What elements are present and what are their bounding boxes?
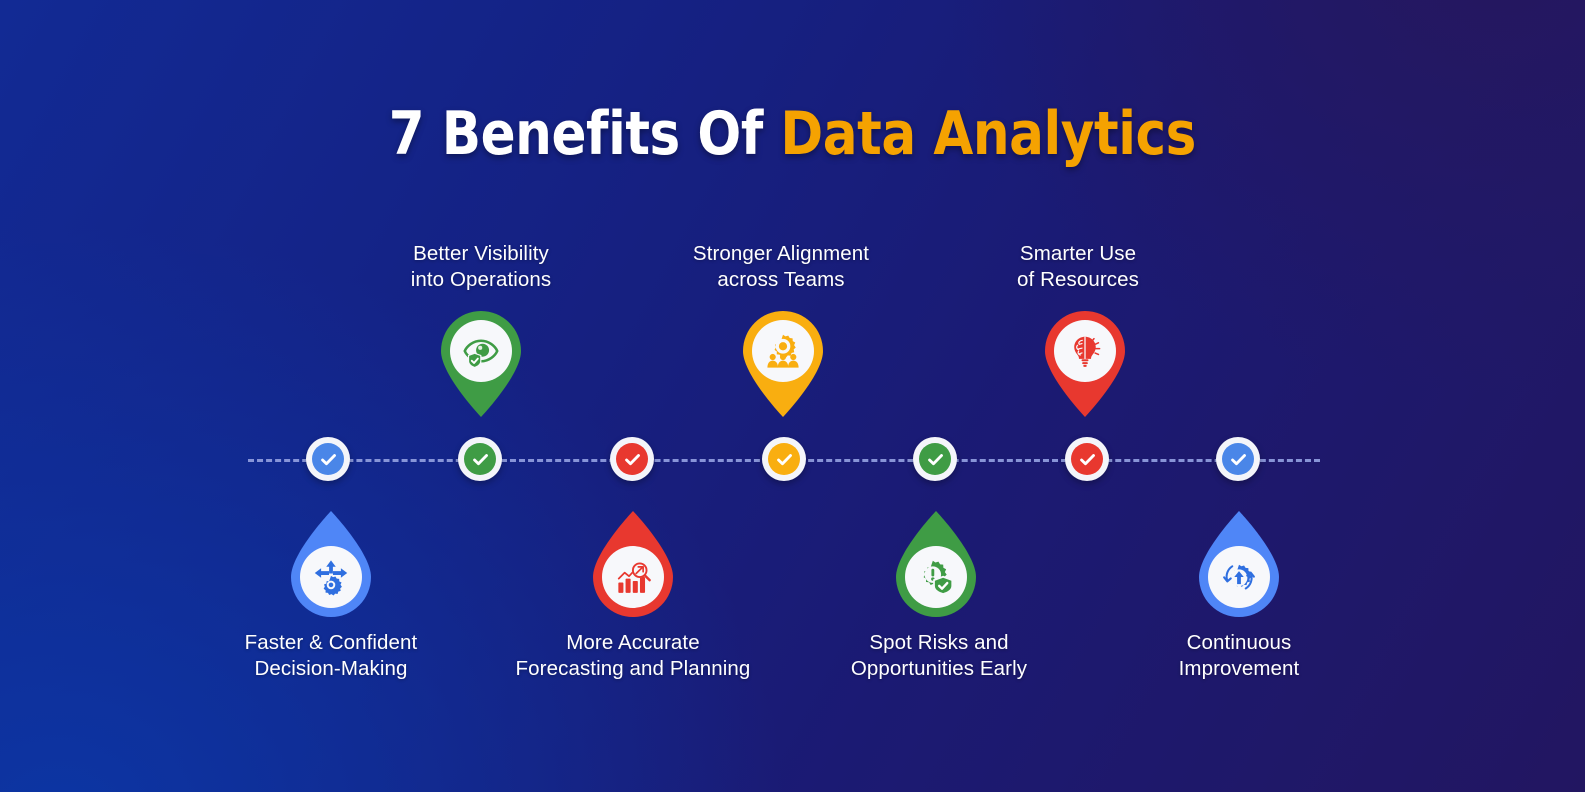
title-plain: 7 Benefits Of	[389, 99, 781, 169]
check-icon	[926, 450, 945, 469]
pin-smarter-resources[interactable]	[1037, 303, 1133, 417]
pin-icon-circle	[300, 546, 362, 608]
infographic-canvas: 7 Benefits Of Data Analytics	[0, 0, 1585, 792]
pin-icon-circle	[602, 546, 664, 608]
timeline-node-4[interactable]	[762, 437, 806, 481]
label-line1: Continuous	[1187, 631, 1292, 654]
title-text: 7 Benefits Of Data Analytics	[389, 104, 1196, 164]
brain-lightbulb-icon	[1066, 332, 1104, 370]
gear-alert-shield-icon	[917, 558, 955, 596]
timeline-node-5[interactable]	[913, 437, 957, 481]
label-line1: Faster & Confident	[245, 631, 418, 654]
check-icon	[1229, 450, 1248, 469]
label-line1: Stronger Alignment	[693, 242, 869, 265]
gear-team-icon	[764, 332, 802, 370]
timeline-node-2[interactable]	[458, 437, 502, 481]
label-spot-risks: Spot Risks and Opportunities Early	[789, 630, 1089, 682]
refresh-gear-up-icon	[1220, 558, 1258, 596]
check-icon	[623, 450, 642, 469]
gear-arrows-icon	[312, 558, 350, 596]
pin-continuous-improvement[interactable]	[1191, 511, 1287, 625]
pin-icon-circle	[1208, 546, 1270, 608]
label-smarter-resources: Smarter Use of Resources	[928, 241, 1228, 293]
title-accent: Data Analytics	[781, 99, 1197, 169]
check-icon	[319, 450, 338, 469]
eye-shield-check-icon	[462, 332, 500, 370]
timeline-node-3[interactable]	[610, 437, 654, 481]
check-disc	[312, 443, 344, 475]
pin-stronger-alignment[interactable]	[735, 303, 831, 417]
label-line2: Forecasting and Planning	[483, 656, 783, 682]
label-better-visibility: Better Visibility into Operations	[331, 241, 631, 293]
label-line2: Decision-Making	[181, 656, 481, 682]
check-disc	[768, 443, 800, 475]
pin-icon-circle	[905, 546, 967, 608]
label-line2: of Resources	[928, 267, 1228, 293]
pin-icon-circle	[752, 320, 814, 382]
label-line1: Smarter Use	[1020, 242, 1136, 265]
pin-spot-risks[interactable]	[888, 511, 984, 625]
pin-faster-decisions[interactable]	[283, 511, 379, 625]
label-faster-decisions: Faster & Confident Decision-Making	[181, 630, 481, 682]
timeline-node-6[interactable]	[1065, 437, 1109, 481]
timeline-node-1[interactable]	[306, 437, 350, 481]
label-continuous-improvement: Continuous Improvement	[1089, 630, 1389, 682]
label-line1: Better Visibility	[413, 242, 549, 265]
pin-icon-circle	[450, 320, 512, 382]
label-line2: Opportunities Early	[789, 656, 1089, 682]
label-line1: More Accurate	[566, 631, 699, 654]
pin-better-visibility[interactable]	[433, 303, 529, 417]
check-disc	[616, 443, 648, 475]
check-icon	[1078, 450, 1097, 469]
timeline-node-7[interactable]	[1216, 437, 1260, 481]
check-disc	[464, 443, 496, 475]
label-accurate-forecasting: More Accurate Forecasting and Planning	[483, 630, 783, 682]
label-line2: across Teams	[631, 267, 931, 293]
pin-icon-circle	[1054, 320, 1116, 382]
check-disc	[1071, 443, 1103, 475]
page-title: 7 Benefits Of Data Analytics	[0, 104, 1585, 164]
check-disc	[1222, 443, 1254, 475]
check-disc	[919, 443, 951, 475]
check-icon	[775, 450, 794, 469]
label-line2: into Operations	[331, 267, 631, 293]
label-stronger-alignment: Stronger Alignment across Teams	[631, 241, 931, 293]
label-line1: Spot Risks and	[869, 631, 1008, 654]
bar-chart-magnifier-icon	[614, 558, 652, 596]
pin-accurate-forecasting[interactable]	[585, 511, 681, 625]
label-line2: Improvement	[1089, 656, 1389, 682]
check-icon	[471, 450, 490, 469]
